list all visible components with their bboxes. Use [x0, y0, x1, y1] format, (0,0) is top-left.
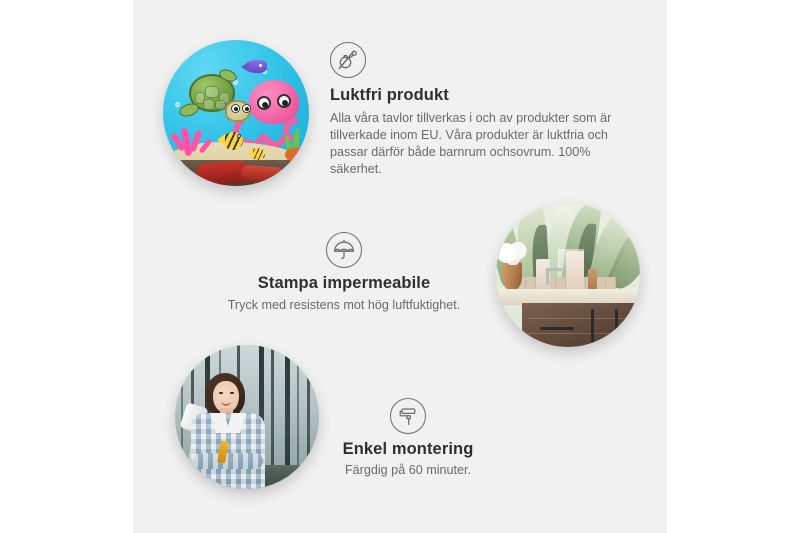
octopus-eye: [257, 96, 271, 110]
octopus-eye: [277, 94, 291, 108]
feature-description: Alla våra tavlor tillverkas i och av pro…: [330, 110, 622, 178]
shipwreck-icon: [240, 165, 281, 184]
underwater-kids-scene-image: [163, 40, 309, 186]
bathroom-wallpaper-image: [496, 203, 640, 347]
purple-fish-eye: [259, 64, 262, 67]
vase-icon: [502, 261, 522, 291]
feature-title: Luktfri produkt: [330, 86, 622, 105]
bubble-icon: [175, 102, 180, 107]
faucet-icon: [546, 269, 549, 285]
towel-roll: [566, 251, 584, 291]
paint-roller-icon: [390, 398, 426, 434]
feature-title: Stampa impermeabile: [213, 274, 475, 293]
purple-fish-tail: [241, 62, 249, 72]
feature-description: Färgdig på 60 minuter.: [300, 462, 516, 479]
yellow-fish-icon: [251, 148, 265, 160]
promo-feature-panel: Luktfri produkt Alla våra tavlor tillver…: [0, 0, 800, 533]
woman-with-paint-roller-image: [175, 345, 319, 489]
no-smell-perfume-icon: [330, 42, 366, 78]
drawer-handle: [540, 327, 574, 330]
feature-description: Tryck med resistens mot hög luftfuktighe…: [213, 297, 475, 314]
vanity-cabinet: [522, 303, 640, 347]
yellow-fish-eye: [237, 134, 241, 138]
umbrella-icon: [326, 232, 362, 268]
woman-eye: [219, 392, 223, 394]
feature-odour-free: Luktfri produkt Alla våra tavlor tillver…: [330, 42, 622, 178]
feature-easy-mounting: Enkel montering Färgdig på 60 minuter.: [300, 398, 516, 479]
woman-eye: [230, 392, 234, 394]
feature-title: Enkel montering: [300, 440, 516, 459]
turtle-eye: [231, 104, 240, 113]
cabinet-handle: [591, 309, 594, 343]
soap-bottle: [588, 269, 597, 291]
yellow-fish-tail: [217, 134, 225, 146]
yellow-fish-tail: [247, 149, 253, 157]
flowers-icon: [497, 241, 529, 265]
feature-waterproof-print: Stampa impermeabile Tryck med resistens …: [213, 232, 475, 314]
woman-crossed-arms: [193, 453, 263, 469]
faucet-icon: [546, 268, 562, 271]
cabinet-handle: [615, 309, 618, 343]
turtle-eye: [242, 104, 251, 113]
